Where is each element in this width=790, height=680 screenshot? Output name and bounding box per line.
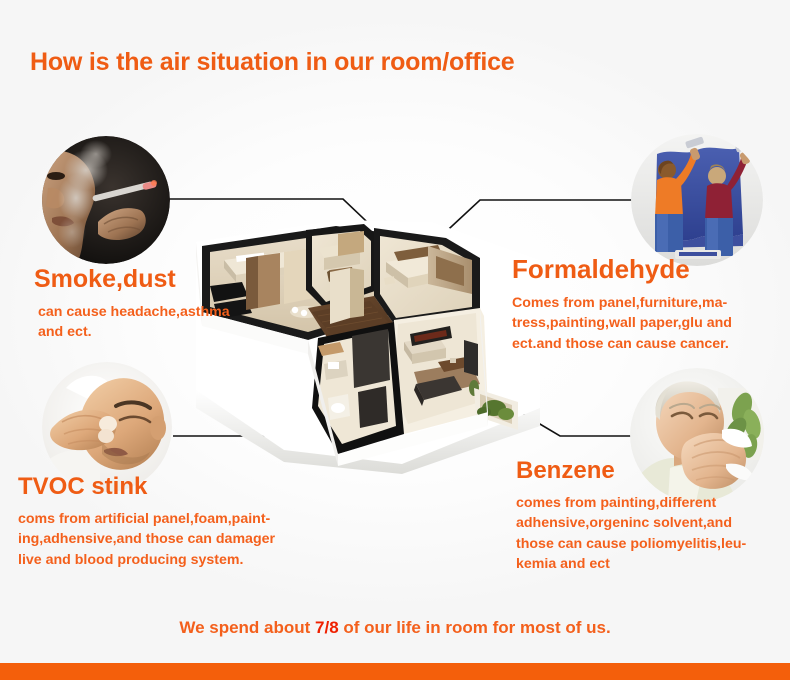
infographic-poster: How is the air situation in our room/off… xyxy=(0,0,790,680)
callout-tvoc-line-3: live and blood producing system. xyxy=(18,550,275,570)
callout-smoke-line-2: and ect. xyxy=(38,322,230,342)
footer-note: We spend about 7/8 of our life in room f… xyxy=(0,618,790,638)
callout-formaldehyde-line-2: tress,painting,wall paper,glu and xyxy=(512,313,732,333)
callout-tvoc-heading: TVOC stink xyxy=(18,474,275,499)
callout-formaldehyde-line-3: ect.and those can cause cancer. xyxy=(512,334,732,354)
callout-benzene-line-1: comes from painting,different xyxy=(516,493,746,513)
callout-tvoc-line-1: coms from artificial panel,foam,paint- xyxy=(18,509,275,529)
photo-couple-painting-wall xyxy=(631,134,763,266)
callout-formaldehyde: Formaldehyde Comes from panel,furniture,… xyxy=(512,256,732,354)
callout-benzene-line-2: adhensive,orgeninc solvent,and xyxy=(516,513,746,533)
callout-tvoc-body: coms from artificial panel,foam,paint- i… xyxy=(18,509,275,569)
callout-smoke: Smoke,dust can cause headache,asthma and… xyxy=(34,266,230,343)
callout-tvoc: TVOC stink coms from artificial panel,fo… xyxy=(18,474,275,570)
callout-smoke-body: can cause headache,asthma and ect. xyxy=(38,302,230,342)
callout-benzene: Benzene comes from painting,different ad… xyxy=(516,458,746,574)
callout-benzene-line-4: kemia and ect xyxy=(516,554,746,574)
page-title: How is the air situation in our room/off… xyxy=(30,48,515,77)
callout-tvoc-line-2: ing,adhensive,and those can damager xyxy=(18,529,275,549)
photo-man-smoking-cigarette xyxy=(42,136,170,264)
footer-text-after: of our life in room for most of us. xyxy=(339,618,611,637)
callout-benzene-heading: Benzene xyxy=(516,458,746,483)
callout-benzene-body: comes from painting,different adhensive,… xyxy=(516,493,746,574)
callout-smoke-heading: Smoke,dust xyxy=(34,266,230,292)
callout-formaldehyde-body: Comes from panel,furniture,ma- tress,pai… xyxy=(512,293,732,353)
bottom-accent-bar xyxy=(0,663,790,680)
callout-smoke-line-1: can cause headache,asthma xyxy=(38,302,230,322)
footer-fraction: 7/8 xyxy=(315,618,339,637)
house-floorplan-illustration xyxy=(188,212,560,474)
callout-formaldehyde-heading: Formaldehyde xyxy=(512,256,732,283)
callout-formaldehyde-line-1: Comes from panel,furniture,ma- xyxy=(512,293,732,313)
callout-benzene-line-3: those can cause poliomyelitis,leu- xyxy=(516,534,746,554)
footer-text-before: We spend about xyxy=(179,618,315,637)
room-living xyxy=(388,308,488,434)
